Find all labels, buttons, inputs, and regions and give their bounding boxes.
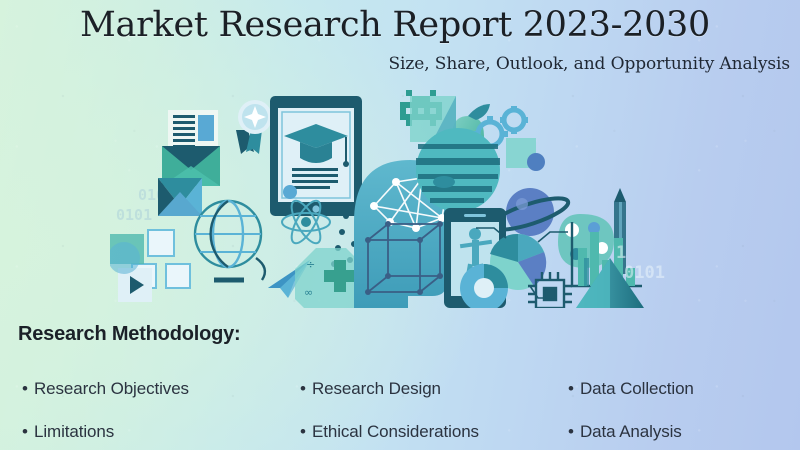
section-heading: Research Methodology: <box>18 323 241 346</box>
list-item-label: Data Collection <box>580 378 792 399</box>
list-item-label: Research Objectives <box>34 378 300 399</box>
bullet-marker: • <box>300 421 312 442</box>
list-item: • Research Objectives <box>22 378 300 399</box>
list-item-label: Ethical Considerations <box>312 421 568 442</box>
bullet-marker: • <box>300 378 312 399</box>
award-ribbon-icon <box>236 100 272 154</box>
bullet-marker: • <box>22 421 34 442</box>
list-item: • Data Analysis <box>568 421 792 442</box>
page-subtitle: Size, Share, Outlook, and Opportunity An… <box>389 54 791 74</box>
list-item: • Limitations <box>22 421 300 442</box>
list-item: • Data Collection <box>568 378 792 399</box>
list-item: • Ethical Considerations <box>300 421 568 442</box>
list-item-label: Research Design <box>312 378 568 399</box>
list-item-label: Data Analysis <box>580 421 792 442</box>
poster-canvas: 0101 0100 <box>0 0 800 450</box>
binary-decor-right: 0101 1 <box>616 243 665 283</box>
methodology-bullet-grid: • Research Objectives • Research Design … <box>22 378 792 443</box>
bullet-marker: • <box>568 378 580 399</box>
globe-icon <box>195 201 265 280</box>
list-item-label: Limitations <box>34 421 300 442</box>
page-title: Market Research Report 2023-2030 <box>0 6 790 45</box>
svg-text:0101: 0101 <box>116 206 152 224</box>
research-illustration: 0101 0100 <box>110 82 670 308</box>
list-item: • Research Design <box>300 378 568 399</box>
svg-text:1: 1 <box>616 243 626 263</box>
play-button-icon <box>110 234 152 302</box>
envelope-document-icon <box>162 110 220 186</box>
svg-text:∞: ∞ <box>304 286 313 299</box>
bullet-marker: • <box>22 378 34 399</box>
svg-text:÷: ÷ <box>306 258 315 271</box>
planet-jupiter-icon <box>416 128 500 212</box>
svg-text:0101: 0101 <box>624 263 665 283</box>
tablet-graduation-icon <box>270 96 362 216</box>
bullet-marker: • <box>568 421 580 442</box>
